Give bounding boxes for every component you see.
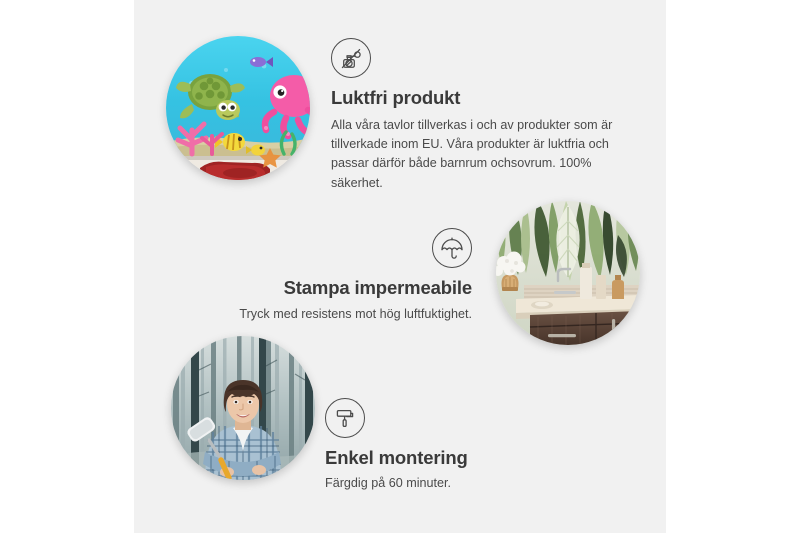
underwater-cartoon-mural-image xyxy=(166,36,310,180)
bathroom-green-leaf-wallpaper-image xyxy=(496,201,640,345)
feature-title: Enkel montering xyxy=(325,447,605,469)
paint-roller-icon xyxy=(325,398,365,438)
feature-block-stampa-impermeabile: Stampa impermeabile Tryck med resistens … xyxy=(190,228,472,324)
feature-block-luktfri-produkt: Luktfri produkt Alla våra tavlor tillver… xyxy=(331,38,621,193)
feature-title: Stampa impermeabile xyxy=(190,277,472,299)
feature-body: Tryck med resistens mot hög luftfuktighe… xyxy=(190,305,472,324)
woman-with-paint-roller-forest-image xyxy=(171,336,315,480)
feature-block-enkel-montering: Enkel montering Färgdig på 60 minuter. xyxy=(325,398,605,493)
feature-body: Alla våra tavlor tillverkas i och av pro… xyxy=(331,116,621,193)
feature-body: Färgdig på 60 minuter. xyxy=(325,474,605,493)
feature-infographic-canvas: Luktfri produkt Alla våra tavlor tillver… xyxy=(0,0,800,533)
umbrella-icon xyxy=(432,228,472,268)
feature-title: Luktfri produkt xyxy=(331,87,621,109)
no-fragrance-icon xyxy=(331,38,371,78)
